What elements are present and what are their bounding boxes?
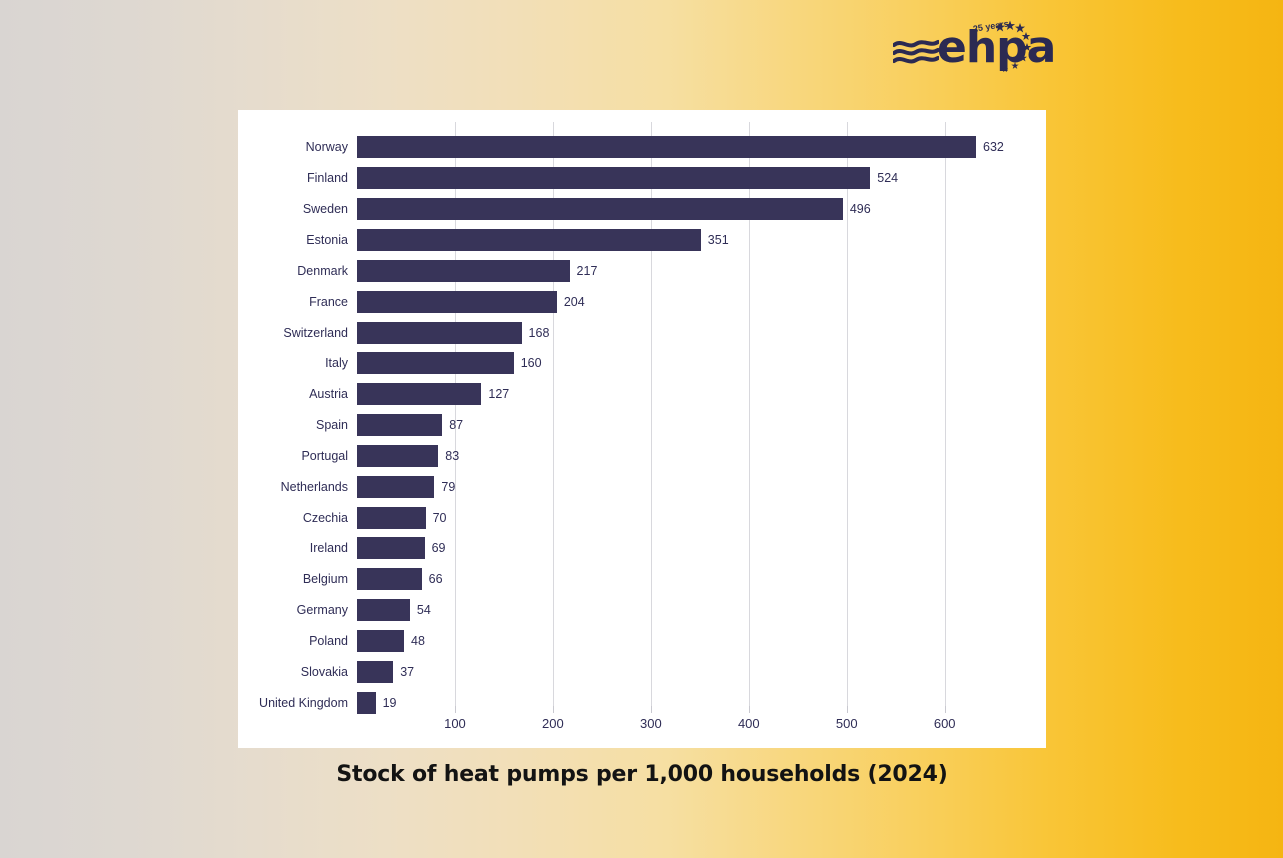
bar[interactable] xyxy=(357,414,442,436)
x-tick-label: 400 xyxy=(738,716,760,731)
bar-value-label: 496 xyxy=(850,202,871,216)
ehpa-logo: ehpa 25 years xyxy=(893,20,1033,78)
chart-row: Germany54 xyxy=(238,595,1046,626)
category-label: Poland xyxy=(238,634,348,648)
x-tick-mark xyxy=(847,706,848,713)
category-label: Portugal xyxy=(238,449,348,463)
x-tick-mark xyxy=(455,706,456,713)
category-label: Netherlands xyxy=(238,480,348,494)
chart-row: Switzerland168 xyxy=(238,317,1046,348)
chart-row: Austria127 xyxy=(238,379,1046,410)
x-tick-label: 600 xyxy=(934,716,956,731)
category-label: Denmark xyxy=(238,264,348,278)
x-tick-mark xyxy=(749,706,750,713)
bar[interactable] xyxy=(357,260,570,282)
page-background: ehpa 25 years Norway632Finland524Swede xyxy=(0,0,1283,858)
x-tick-label: 300 xyxy=(640,716,662,731)
eu-stars-icon xyxy=(985,20,1033,76)
bar[interactable] xyxy=(357,599,410,621)
category-label: Austria xyxy=(238,387,348,401)
bar-value-label: 70 xyxy=(433,511,447,525)
x-tick-label: 200 xyxy=(542,716,564,731)
bar-value-label: 37 xyxy=(400,665,414,679)
bar[interactable] xyxy=(357,476,434,498)
category-label: Finland xyxy=(238,171,348,185)
bar-value-label: 54 xyxy=(417,603,431,617)
category-label: Norway xyxy=(238,140,348,154)
chart-row: Norway632 xyxy=(238,132,1046,163)
category-label: Estonia xyxy=(238,233,348,247)
bar-value-label: 83 xyxy=(445,449,459,463)
bar-value-label: 87 xyxy=(449,418,463,432)
chart-row: France204 xyxy=(238,286,1046,317)
bar-value-label: 127 xyxy=(488,387,509,401)
bar[interactable] xyxy=(357,167,870,189)
chart-row: Netherlands79 xyxy=(238,471,1046,502)
bar[interactable] xyxy=(357,352,514,374)
chart-row: Sweden496 xyxy=(238,194,1046,225)
bar[interactable] xyxy=(357,198,843,220)
x-tick-mark xyxy=(651,706,652,713)
bar-value-label: 48 xyxy=(411,634,425,648)
bar-chart: Norway632Finland524Sweden496Estonia351De… xyxy=(238,110,1046,748)
bar-value-label: 160 xyxy=(521,356,542,370)
chart-row: Poland48 xyxy=(238,626,1046,657)
category-label: Belgium xyxy=(238,572,348,586)
chart-row: Belgium66 xyxy=(238,564,1046,595)
chart-row: Slovakia37 xyxy=(238,656,1046,687)
wave-icon xyxy=(893,38,939,68)
category-label: Switzerland xyxy=(238,326,348,340)
category-label: Ireland xyxy=(238,541,348,555)
bar[interactable] xyxy=(357,291,557,313)
x-tick-label: 100 xyxy=(444,716,466,731)
chart-row: Spain87 xyxy=(238,410,1046,441)
chart-row: Ireland69 xyxy=(238,533,1046,564)
chart-row: Finland524 xyxy=(238,163,1046,194)
bar[interactable] xyxy=(357,661,393,683)
category-label: Germany xyxy=(238,603,348,617)
bar-value-label: 66 xyxy=(429,572,443,586)
chart-bars-area: Norway632Finland524Sweden496Estonia351De… xyxy=(238,110,1046,710)
bar[interactable] xyxy=(357,322,522,344)
category-label: Spain xyxy=(238,418,348,432)
category-label: Sweden xyxy=(238,202,348,216)
chart-caption: Stock of heat pumps per 1,000 households… xyxy=(238,762,1046,787)
bar[interactable] xyxy=(357,383,481,405)
chart-row: Estonia351 xyxy=(238,225,1046,256)
bar-value-label: 351 xyxy=(708,233,729,247)
category-label: Czechia xyxy=(238,511,348,525)
chart-card: Norway632Finland524Sweden496Estonia351De… xyxy=(238,110,1046,748)
bar-value-label: 69 xyxy=(432,541,446,555)
bar-value-label: 168 xyxy=(529,326,550,340)
bar[interactable] xyxy=(357,568,422,590)
x-tick-mark xyxy=(945,706,946,713)
x-tick-label: 500 xyxy=(836,716,858,731)
bar[interactable] xyxy=(357,537,425,559)
category-label: France xyxy=(238,295,348,309)
bar-value-label: 524 xyxy=(877,171,898,185)
bar[interactable] xyxy=(357,507,426,529)
chart-row: Czechia70 xyxy=(238,502,1046,533)
category-label: Italy xyxy=(238,356,348,370)
chart-row: Italy160 xyxy=(238,348,1046,379)
bar-value-label: 632 xyxy=(983,140,1004,154)
bar-value-label: 79 xyxy=(441,480,455,494)
bar[interactable] xyxy=(357,229,701,251)
bar[interactable] xyxy=(357,630,404,652)
bar[interactable] xyxy=(357,136,976,158)
category-label: Slovakia xyxy=(238,665,348,679)
chart-row: Portugal83 xyxy=(238,441,1046,472)
bar[interactable] xyxy=(357,445,438,467)
x-tick-mark xyxy=(553,706,554,713)
bar-value-label: 204 xyxy=(564,295,585,309)
x-axis: 100200300400500600 xyxy=(238,706,1046,748)
bar-value-label: 217 xyxy=(577,264,598,278)
chart-row: Denmark217 xyxy=(238,255,1046,286)
